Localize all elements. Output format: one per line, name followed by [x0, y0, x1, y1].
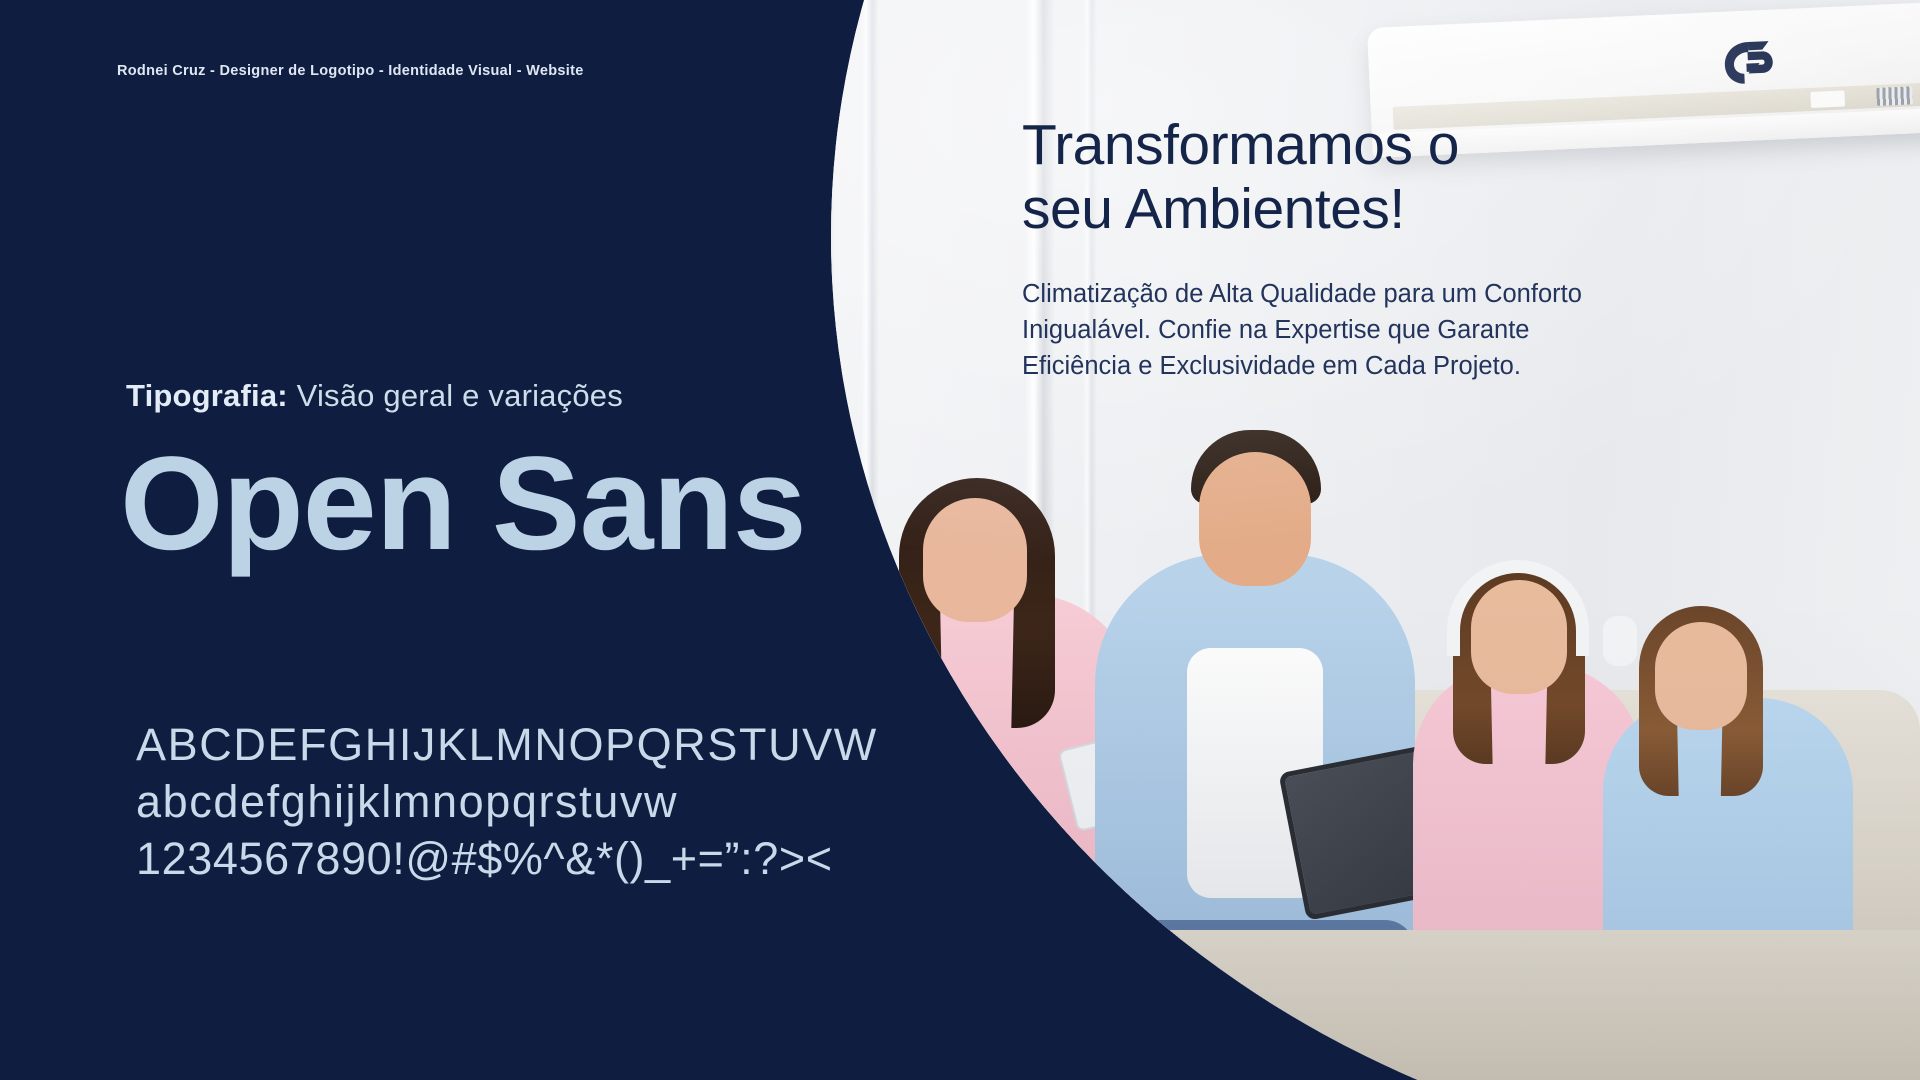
- girl2-head: [1655, 622, 1747, 730]
- headline: Transformamos o seu Ambientes!: [1022, 114, 1642, 242]
- rc-monogram-logo: [1720, 38, 1776, 88]
- specimen-uppercase-row: ABCDEFGHIJKLMNOPQRSTUVW: [136, 716, 956, 773]
- specimen-lowercase-row: abcdefghijklmnopqrstuvw: [136, 773, 956, 830]
- headphones-icon: [1447, 560, 1589, 656]
- wall-molding: [861, 0, 879, 1080]
- specimen-symbols-row: 1234567890!@#$%^&*()_+=”:?><: [136, 830, 956, 887]
- font-name-title: Open Sans: [120, 434, 806, 575]
- credit-line: Rodnei Cruz - Designer de Logotipo - Ide…: [117, 63, 584, 79]
- ac-grill: [1876, 86, 1913, 106]
- type-specimen: ABCDEFGHIJKLMNOPQRSTUVW abcdefghijklmnop…: [136, 716, 956, 887]
- sofa-seat: [765, 930, 1920, 1080]
- mother-jeans: [797, 930, 1047, 1080]
- typography-label-rest: Visão geral e variações: [288, 378, 623, 413]
- typography-label-strong: Tipografia:: [126, 378, 288, 413]
- father-head: [1199, 452, 1311, 586]
- headphone-earcup: [1603, 616, 1637, 666]
- wall-molding: [809, 0, 835, 1080]
- slide-canvas: Rodnei Cruz - Designer de Logotipo - Ide…: [0, 0, 1920, 1080]
- ac-display: [1810, 90, 1845, 108]
- subheadline-copy: Climatização de Alta Qualidade para um C…: [1022, 276, 1702, 385]
- typography-label: Tipografia: Visão geral e variações: [126, 378, 623, 414]
- mother-head: [923, 498, 1027, 622]
